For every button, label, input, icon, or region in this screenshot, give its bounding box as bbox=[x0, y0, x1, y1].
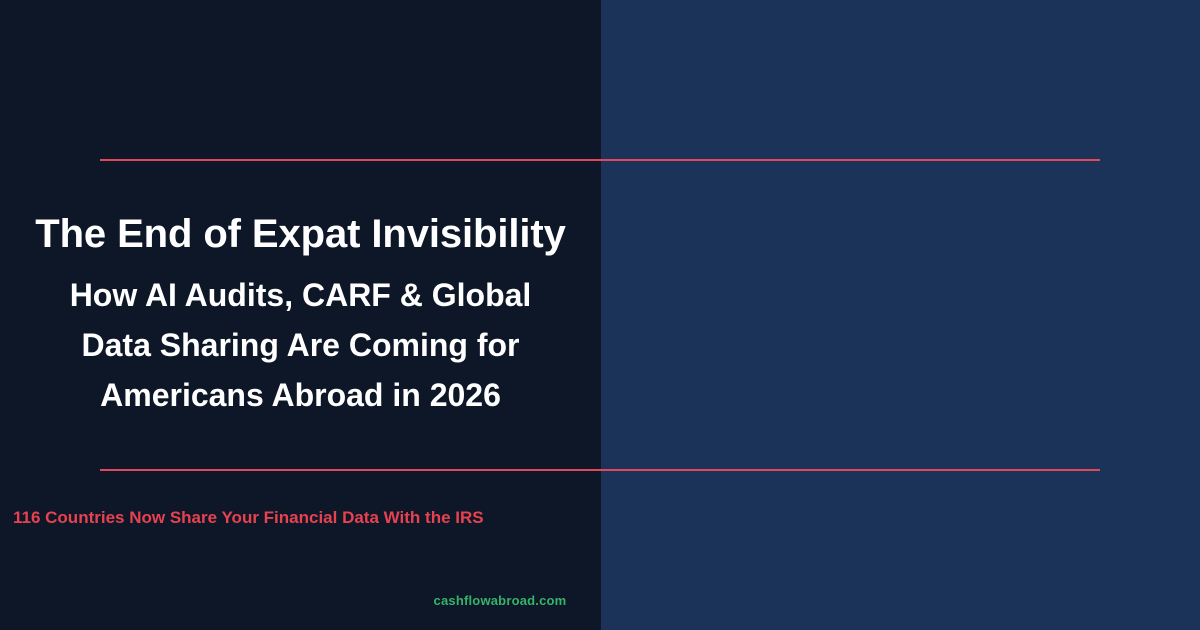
background-panel-right bbox=[601, 0, 1200, 630]
social-share-card: The End of Expat Invisibility How AI Aud… bbox=[0, 0, 1200, 630]
subtitle-line: Data Sharing Are Coming for bbox=[26, 320, 575, 370]
page-title: The End of Expat Invisibility bbox=[0, 209, 601, 259]
subtitle-line: How AI Audits, CARF & Global bbox=[26, 270, 575, 320]
subtitle-line: Americans Abroad in 2026 bbox=[26, 370, 575, 420]
site-branding: cashflowabroad.com bbox=[0, 592, 1000, 609]
page-subtitle: How AI Audits, CARF & Global Data Sharin… bbox=[26, 270, 575, 420]
tagline-text: 116 Countries Now Share Your Financial D… bbox=[13, 507, 484, 529]
card-content: The End of Expat Invisibility How AI Aud… bbox=[0, 0, 601, 630]
